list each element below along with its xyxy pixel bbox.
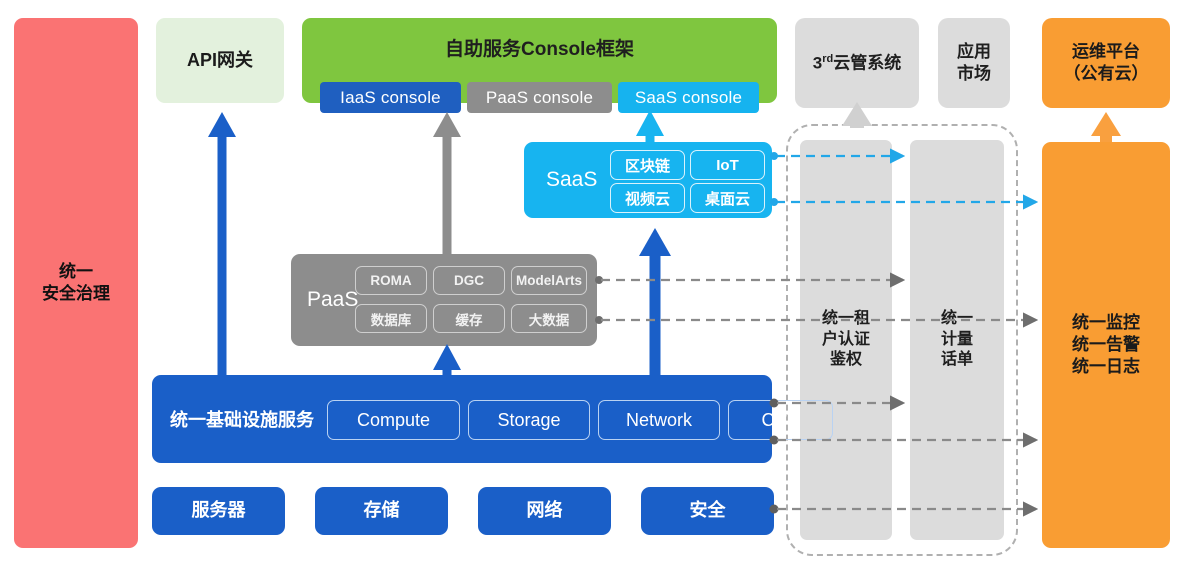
saas-console-chip[interactable]: SaaS console <box>618 82 759 113</box>
paas-chip-roma[interactable]: ROMA <box>355 266 427 295</box>
metering-line3: 话单 <box>941 350 973 371</box>
paas-chip-cache-label: 缓存 <box>456 309 483 329</box>
hardware-security-label: 安全 <box>690 499 726 522</box>
security-governance-line2: 安全治理 <box>42 283 110 305</box>
security-governance-line1: 统一 <box>42 261 110 283</box>
third-party-superscript: rd <box>822 53 833 65</box>
iaas-console-label: IaaS console <box>340 87 441 109</box>
monitoring-column[interactable]: 统一监控 统一告警 统一日志 <box>1042 142 1170 548</box>
iaas-chip-cce[interactable]: CCE <box>728 400 833 440</box>
iaas-chip-cce-label: CCE <box>761 410 799 431</box>
saas-block[interactable]: SaaS 区块链 IoT 视频云 桌面云 <box>524 142 772 218</box>
auth-line2: 户认证 <box>822 330 870 351</box>
arrow-iaas-to-api-gateway <box>208 112 236 375</box>
app-market-box[interactable]: 应用 市场 <box>938 18 1010 108</box>
unified-metering-column[interactable]: 统一 计量 话单 <box>910 140 1004 540</box>
third-party-prefix: 3 <box>813 53 822 72</box>
saas-label: SaaS <box>546 168 597 192</box>
third-party-cloud-mgmt-label: 3rd云管系统 <box>813 52 901 74</box>
paas-chip-dgc[interactable]: DGC <box>433 266 505 295</box>
arrow-monitoring-to-ops-platform <box>1091 112 1121 142</box>
monitoring-line2: 统一告警 <box>1072 334 1140 356</box>
third-party-suffix: 云管系统 <box>833 53 901 72</box>
hardware-box-security[interactable]: 安全 <box>641 487 774 535</box>
unified-metering-label: 统一 计量 话单 <box>941 309 973 371</box>
security-governance-column[interactable]: 统一 安全治理 <box>14 18 138 548</box>
saas-chip-desktop-cloud[interactable]: 桌面云 <box>690 183 765 213</box>
metering-line2: 计量 <box>941 330 973 351</box>
arrow-paas-to-console <box>433 112 461 254</box>
iaas-chip-compute[interactable]: Compute <box>327 400 460 440</box>
saas-chip-blockchain[interactable]: 区块链 <box>610 150 685 180</box>
saas-chip-video-cloud[interactable]: 视频云 <box>610 183 685 213</box>
console-frame-title: 自助服务Console框架 <box>302 38 777 62</box>
paas-chip-roma-label: ROMA <box>370 273 411 288</box>
monitoring-column-label: 统一监控 统一告警 统一日志 <box>1072 312 1140 377</box>
monitoring-line3: 统一日志 <box>1072 356 1140 378</box>
self-service-console-frame[interactable]: 自助服务Console框架 IaaS console PaaS console … <box>302 18 777 103</box>
paas-chip-database-label: 数据库 <box>371 309 412 329</box>
auth-line1: 统一租 <box>822 309 870 330</box>
iaas-chip-network[interactable]: Network <box>598 400 720 440</box>
hardware-network-label: 网络 <box>527 499 563 522</box>
iaas-chip-network-label: Network <box>626 410 692 431</box>
saas-chip-blockchain-label: 区块链 <box>625 155 670 176</box>
paas-chip-database[interactable]: 数据库 <box>355 304 427 333</box>
saas-console-label: SaaS console <box>635 87 742 109</box>
paas-block[interactable]: PaaS ROMA DGC ModelArts 数据库 缓存 大数据 <box>291 254 597 346</box>
paas-chip-bigdata-label: 大数据 <box>529 309 570 329</box>
unified-tenant-auth-column[interactable]: 统一租 户认证 鉴权 <box>800 140 892 540</box>
iaas-bar[interactable]: 统一基础设施服务 Compute Storage Network CCE <box>152 375 772 463</box>
monitoring-line1: 统一监控 <box>1072 312 1140 334</box>
iaas-chip-storage[interactable]: Storage <box>468 400 590 440</box>
ops-platform-line2: （公有云） <box>1064 63 1149 85</box>
saas-chip-iot-label: IoT <box>716 157 739 174</box>
architecture-diagram: 统一 安全治理 API网关 自助服务Console框架 IaaS console… <box>0 0 1200 574</box>
iaas-console-chip[interactable]: IaaS console <box>320 82 461 113</box>
paas-chip-dgc-label: DGC <box>454 273 484 288</box>
app-market-label: 应用 市场 <box>957 41 991 85</box>
hardware-box-storage[interactable]: 存储 <box>315 487 448 535</box>
arrow-iaas-to-saas <box>639 228 671 375</box>
saas-chip-desktop-cloud-label: 桌面云 <box>705 188 750 209</box>
arrow-saas-to-console <box>636 110 664 142</box>
ops-platform-line1: 运维平台 <box>1064 41 1149 63</box>
hardware-box-server[interactable]: 服务器 <box>152 487 285 535</box>
paas-chip-modelarts[interactable]: ModelArts <box>511 266 587 295</box>
ops-platform-box[interactable]: 运维平台 （公有云） <box>1042 18 1170 108</box>
third-party-cloud-mgmt-box[interactable]: 3rd云管系统 <box>795 18 919 108</box>
arrow-iaas-to-paas <box>433 344 461 375</box>
auth-line3: 鉴权 <box>822 350 870 371</box>
api-gateway-label: API网关 <box>187 49 253 72</box>
saas-chip-iot[interactable]: IoT <box>690 150 765 180</box>
hardware-server-label: 服务器 <box>192 499 246 522</box>
iaas-chip-compute-label: Compute <box>357 410 430 431</box>
app-market-line2: 市场 <box>957 63 991 85</box>
unified-tenant-auth-label: 统一租 户认证 鉴权 <box>822 309 870 371</box>
metering-line1: 统一 <box>941 309 973 330</box>
paas-console-label: PaaS console <box>486 87 593 109</box>
security-governance-label: 统一 安全治理 <box>42 261 110 305</box>
ops-platform-label: 运维平台 （公有云） <box>1064 41 1149 85</box>
saas-chip-video-cloud-label: 视频云 <box>625 188 670 209</box>
hardware-storage-label: 存储 <box>364 499 400 522</box>
iaas-chip-storage-label: Storage <box>497 410 560 431</box>
iaas-bar-label: 统一基础设施服务 <box>170 406 314 432</box>
app-market-line1: 应用 <box>957 41 991 63</box>
paas-label: PaaS <box>307 288 358 312</box>
paas-console-chip[interactable]: PaaS console <box>467 82 612 113</box>
api-gateway-box[interactable]: API网关 <box>156 18 284 103</box>
paas-chip-bigdata[interactable]: 大数据 <box>511 304 587 333</box>
paas-chip-cache[interactable]: 缓存 <box>433 304 505 333</box>
hardware-box-network[interactable]: 网络 <box>478 487 611 535</box>
paas-chip-modelarts-label: ModelArts <box>516 273 582 288</box>
